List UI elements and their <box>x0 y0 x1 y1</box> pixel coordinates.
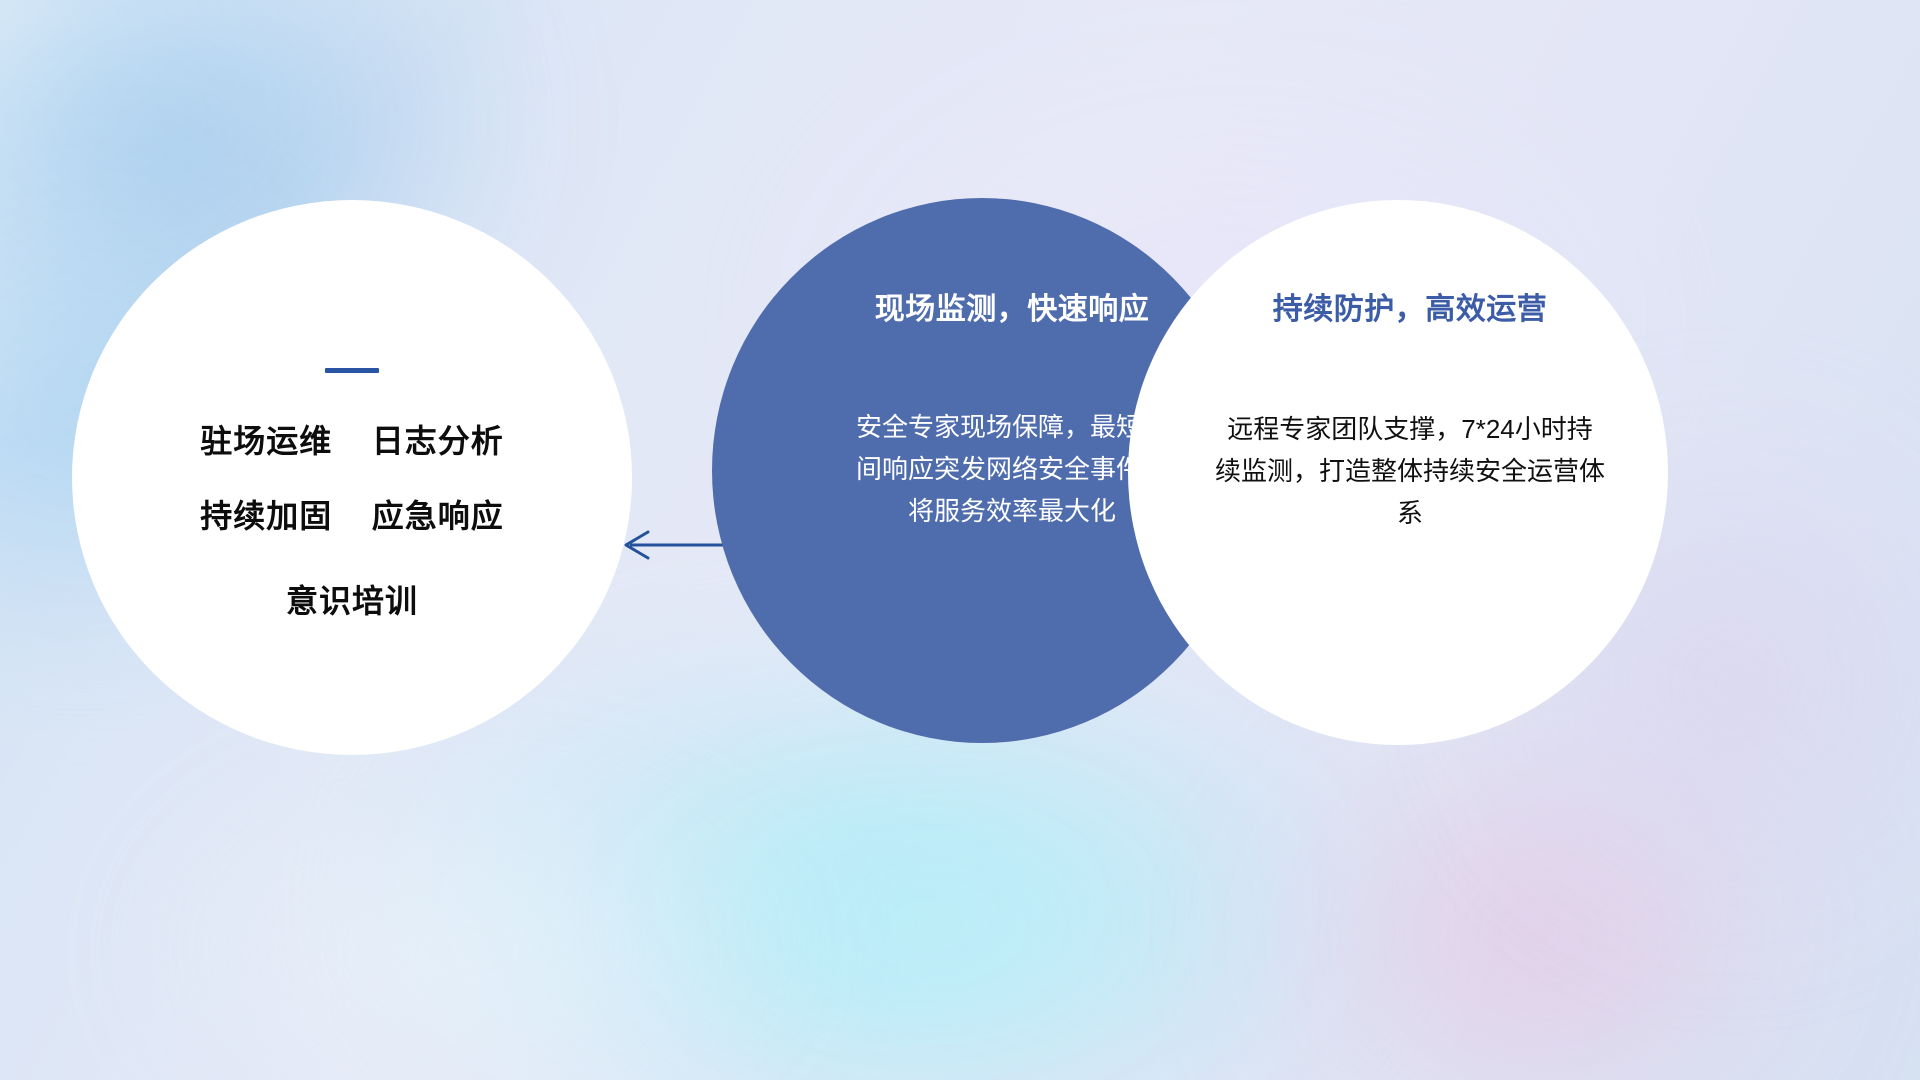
diagram-stage: 驻场运维 日志分析 持续加固 应急响应 意识培训 现场监测，快速响应 安全专家现… <box>0 0 1920 1080</box>
short-rule-icon <box>325 368 379 373</box>
center-circle-title: 现场监测，快速响应 <box>875 284 1150 328</box>
right-circle-body: 远程专家团队支撑，7*24小时持续监测，打造整体持续安全运营体系 <box>1215 408 1605 534</box>
left-circle-line-3: 意识培训 <box>286 585 418 617</box>
right-circle-title: 持续防护，高效运营 <box>1273 284 1548 328</box>
left-circle-content: 驻场运维 日志分析 持续加固 应急响应 意识培训 <box>72 200 632 755</box>
right-circle-content: 持续防护，高效运营 远程专家团队支撑，7*24小时持续监测，打造整体持续安全运营… <box>1128 200 1668 745</box>
left-circle-line-1: 驻场运维 日志分析 <box>200 425 504 457</box>
left-circle-line-2: 持续加固 应急响应 <box>200 500 504 532</box>
